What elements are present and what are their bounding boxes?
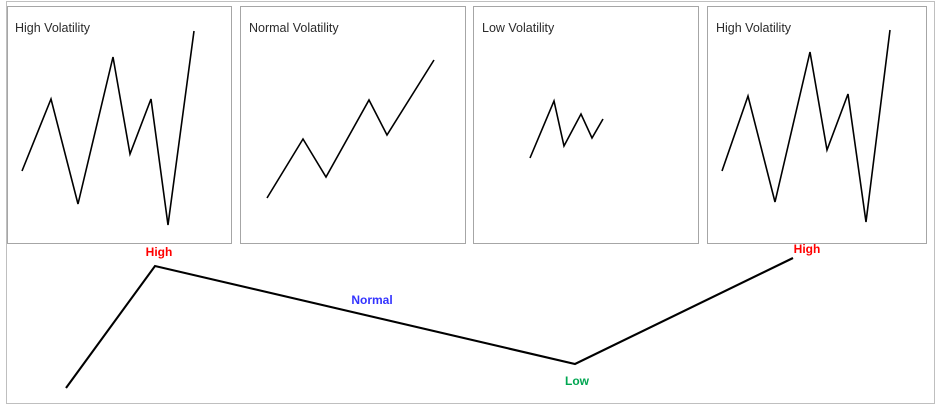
trend-label-high-right: High bbox=[794, 242, 821, 256]
volatility-cycle-trend bbox=[66, 258, 793, 388]
panel-title-4: High Volatility bbox=[716, 21, 792, 35]
panel-group: High VolatilityNormal VolatilityLow Vola… bbox=[8, 7, 927, 244]
panel-title-2: Normal Volatility bbox=[249, 21, 339, 35]
panel-title-1: High Volatility bbox=[15, 21, 91, 35]
trend-label-high-left: High bbox=[146, 245, 173, 259]
panel-border-2 bbox=[241, 7, 466, 244]
trend-line-group bbox=[66, 258, 793, 388]
panel-high-volatility-2: High Volatility bbox=[708, 7, 927, 244]
trend-label-normal: Normal bbox=[351, 293, 392, 307]
panel-normal-volatility: Normal Volatility bbox=[241, 7, 466, 244]
panel-border-4 bbox=[708, 7, 927, 244]
volatility-diagram-canvas: High VolatilityNormal VolatilityLow Vola… bbox=[0, 0, 940, 411]
volatility-figure: High VolatilityNormal VolatilityLow Vola… bbox=[0, 0, 940, 411]
panel-high-volatility-1: High Volatility bbox=[8, 7, 232, 244]
trend-label-low: Low bbox=[565, 374, 590, 388]
panel-low-volatility: Low Volatility bbox=[474, 7, 699, 244]
trend-label-group: HighNormalLowHigh bbox=[146, 242, 821, 388]
panel-title-3: Low Volatility bbox=[482, 21, 555, 35]
